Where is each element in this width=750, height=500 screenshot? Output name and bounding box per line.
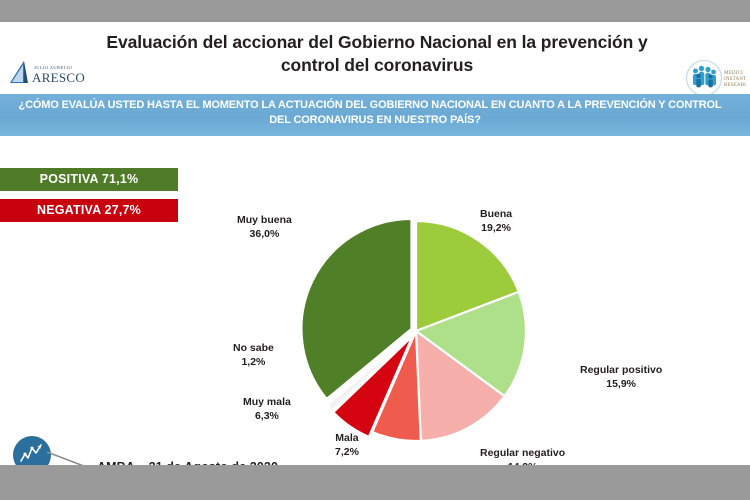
svg-text:MEDICI: MEDICI: [724, 71, 743, 76]
pie-label-no-sabe: No sabe 1,2%: [233, 342, 274, 369]
pie-label-muy-buena-value: 36,0%: [237, 228, 292, 242]
pie-chart: Muy buena 36,0% Buena 19,2% Regular posi…: [215, 142, 675, 462]
pie-label-buena-name: Buena: [480, 208, 512, 222]
pie-label-no-sabe-value: 1,2%: [233, 356, 274, 370]
slide-footer: AMBA – 21 de Agosto de 2020: [0, 422, 750, 465]
pie-graphic: [290, 218, 542, 444]
pie-label-muy-buena-name: Muy buena: [237, 214, 292, 228]
pie-label-no-sabe-name: No sabe: [233, 342, 274, 356]
page-title-line1: Evaluación del accionar del Gobierno Nac…: [106, 32, 633, 52]
legend-negative-badge: NEGATIVA 27,7%: [0, 199, 178, 222]
slide-header: JULIO AURELIO ARESCO Evaluación del acci…: [0, 22, 750, 94]
legend-positive-badge: POSITIVA 71,1%: [0, 168, 178, 191]
pie-label-muy-buena: Muy buena 36,0%: [237, 214, 292, 241]
page-title: Evaluación del accionar del Gobierno Nac…: [88, 31, 666, 77]
aresco-logo-icon: JULIO AURELIO ARESCO: [8, 58, 86, 88]
footer-caption: AMBA – 21 de Agosto de 2020: [97, 460, 278, 465]
svg-text:INSTANT: INSTANT: [724, 77, 746, 82]
pie-label-regular-positivo: Regular positivo 15,9%: [580, 364, 662, 391]
question-line2: DEL CORONAVIRUS EN NUESTRO PAÍS?: [0, 113, 750, 128]
svg-text:RESEARCH: RESEARCH: [724, 83, 746, 88]
pie-label-regular-positivo-value: 15,9%: [580, 378, 662, 392]
aresco-logo: JULIO AURELIO ARESCO: [8, 58, 86, 88]
medici-research-logo-icon: MEDICI INSTANT RESEARCH: [684, 58, 746, 98]
slide-canvas: JULIO AURELIO ARESCO Evaluación del acci…: [0, 22, 750, 465]
pie-slices: [290, 218, 542, 444]
question-banner: ¿CÓMO EVALÚA USTED HASTA EL MOMENTO LA A…: [0, 94, 750, 136]
pie-label-buena: Buena 19,2%: [480, 208, 512, 235]
pie-label-muy-mala-name: Muy mala: [243, 396, 291, 410]
question-line1: ¿CÓMO EVALÚA USTED HASTA EL MOMENTO LA A…: [0, 98, 750, 113]
pie-label-regular-positivo-name: Regular positivo: [580, 364, 662, 378]
svg-text:ARESCO: ARESCO: [32, 70, 85, 85]
pie-label-muy-mala: Muy mala 6,3%: [243, 396, 291, 423]
pie-label-buena-value: 19,2%: [480, 222, 512, 236]
medici-research-logo: MEDICI INSTANT RESEARCH: [684, 58, 746, 98]
